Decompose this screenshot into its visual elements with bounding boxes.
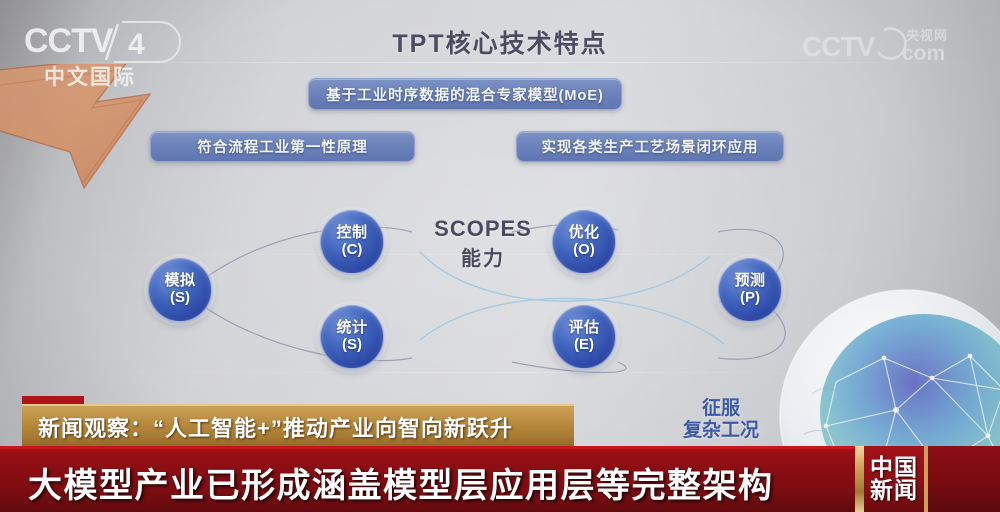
pill-first-principles: 符合流程工业第一性原理 [150,131,415,162]
node-simulation: 模拟 (S) [148,258,212,322]
node-label-en: (S) [170,290,190,307]
node-label-zh: 模拟 [164,273,195,290]
program-badge-line2: 新闻 [870,479,918,502]
node-label-en: (E) [574,337,594,354]
lower-third-subtitle: 新闻观察：“人工智能+”推动产业向智向新跃升 [22,411,513,443]
node-control: 控制 (C) [320,210,384,274]
conquer-line1: 征服 [702,398,740,419]
node-statistics: 统计 (S) [320,305,384,369]
node-label-zh: 统计 [336,320,367,337]
lower-third-gold-edge [855,446,864,512]
program-badge-china-news: 中国 新闻 [864,446,928,512]
program-badge-line1: 中国 [870,456,918,479]
conquer-text: 征服 复杂工况 [666,398,776,442]
node-label-en: (P) [740,290,760,307]
lower-third-headline: 大模型产业已形成涵盖模型层应用层等完整架构 [0,458,774,507]
lower-third-badge-backing [928,446,1000,512]
node-label-zh: 预测 [734,273,765,290]
page-title: TPT核心技术特点 [0,24,1000,60]
node-label-en: (C) [342,242,363,259]
scopes-subtitle: 能力 [418,242,548,271]
scopes-title: SCOPES [418,216,548,242]
scopes-center-label: SCOPES 能力 [418,216,548,271]
node-label-zh: 控制 [336,225,367,242]
node-label-zh: 优化 [568,225,599,242]
lower-third-subtitle-bar: 新闻观察：“人工智能+”推动产业向智向新跃升 [22,404,574,450]
node-label-en: (O) [573,242,595,259]
lower-third-headline-bar: 大模型产业已形成涵盖模型层应用层等完整架构 [0,446,855,512]
node-prediction: 预测 (P) [718,258,782,322]
node-label-zh: 评估 [568,320,599,337]
svg-text:中文国际: 中文国际 [44,65,136,89]
conquer-line2: 复杂工况 [666,420,776,442]
node-optimization: 优化 (O) [552,210,616,274]
pill-closed-loop: 实现各类生产工艺场景闭环应用 [516,131,784,162]
pill-moe-model: 基于工业时序数据的混合专家模型(MoE) [308,78,622,110]
node-evaluation: 评估 (E) [552,305,616,369]
node-label-en: (S) [342,337,362,354]
broadcast-screenshot: CCTV 4 中文国际 CCTV 央视网 com TPT核心技术特点 基于工业时… [0,0,1000,512]
